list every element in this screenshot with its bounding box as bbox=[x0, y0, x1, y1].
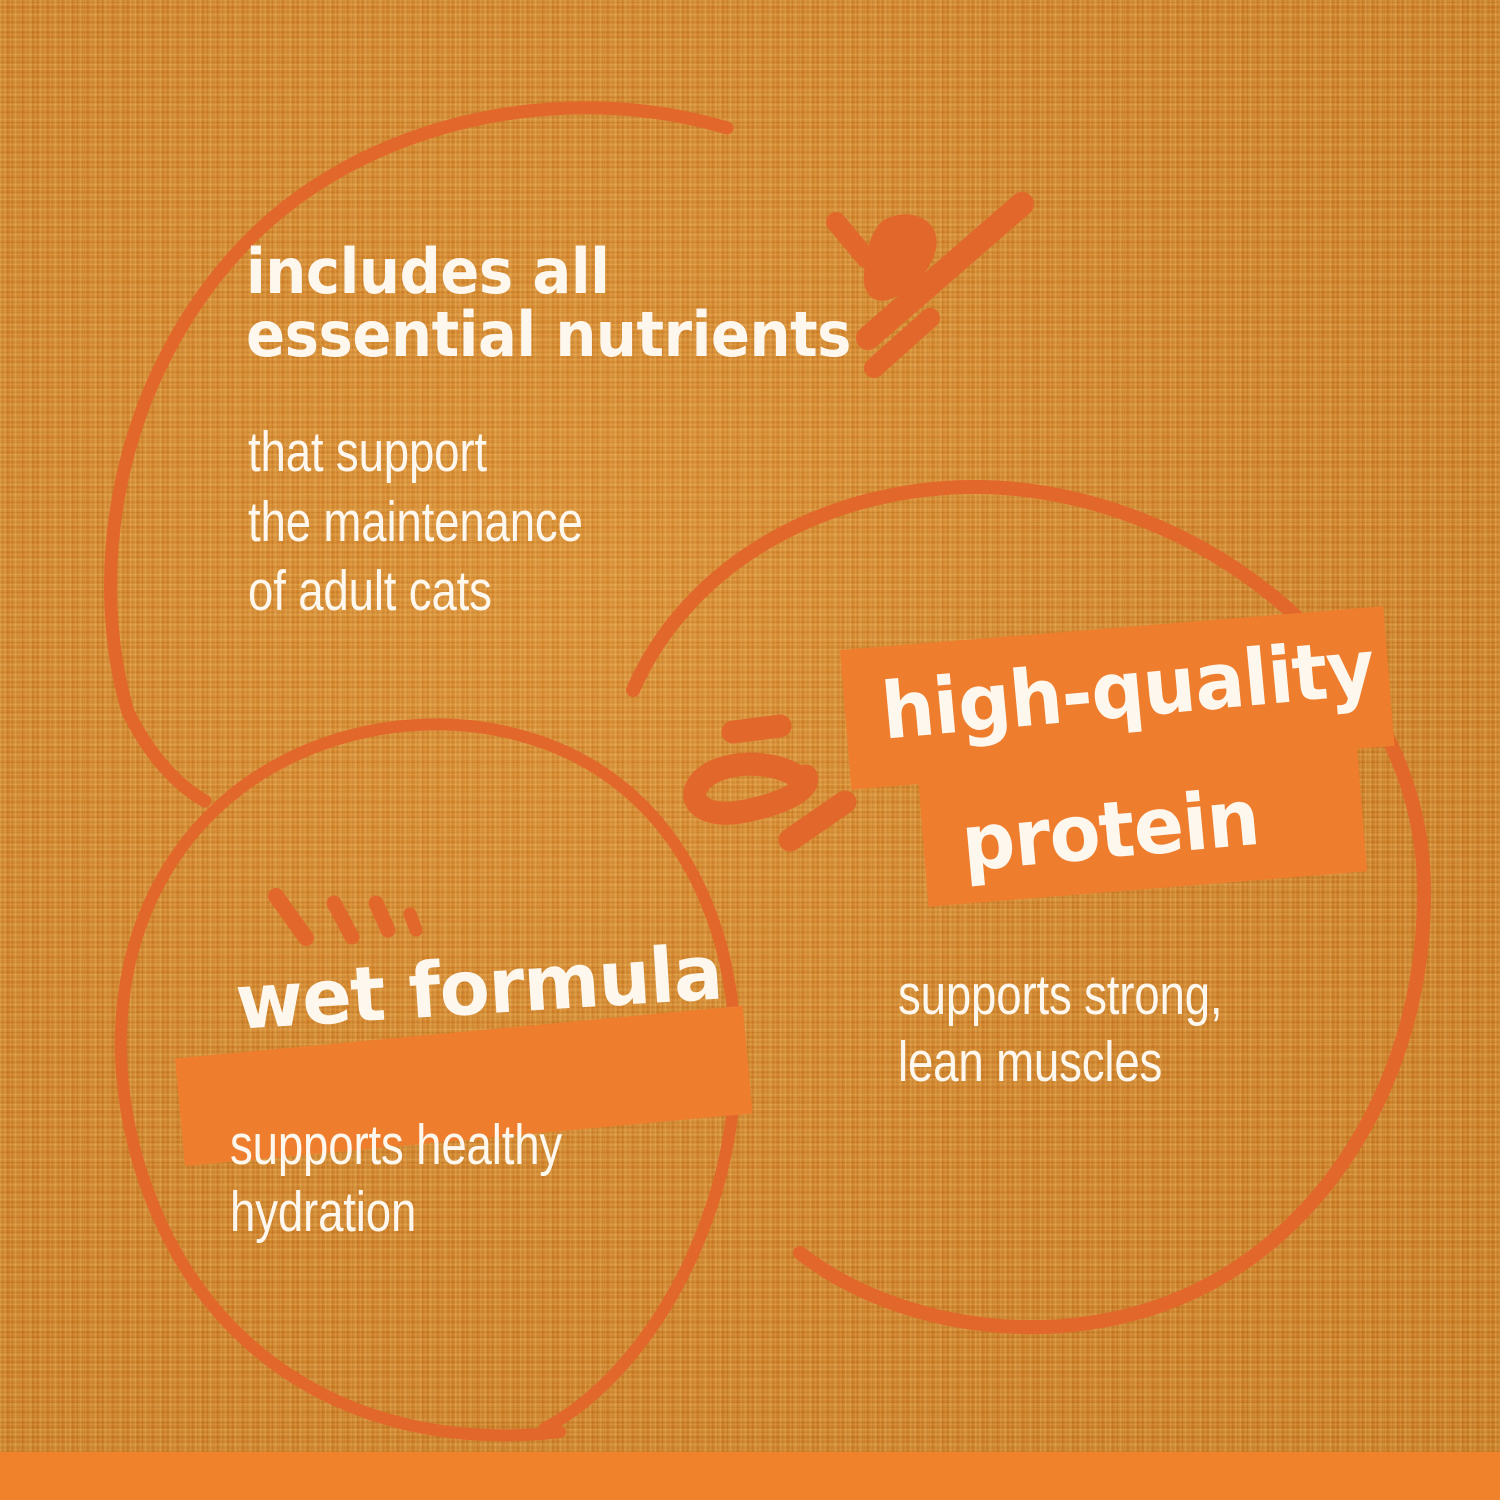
body-text-muscles: supports strong, lean muscles bbox=[898, 962, 1458, 1097]
poster-canvas: .stroke{fill:none;stroke:#e2672b;stroke-… bbox=[0, 0, 1500, 1500]
headline-line-2: essential nutrients bbox=[246, 303, 916, 366]
body-hydration-line-2: hydration bbox=[230, 1179, 678, 1246]
subhead-line-1: that support bbox=[248, 418, 808, 488]
badge-high-quality-protein: high-quality protein bbox=[830, 632, 1430, 922]
subhead-line-3: of adult cats bbox=[248, 557, 808, 627]
body-hydration-line-1: supports healthy bbox=[230, 1112, 678, 1179]
text-content-layer: includes all essential nutrients that su… bbox=[0, 0, 1500, 1500]
headline-line-1: includes all bbox=[246, 240, 916, 303]
subhead-group: that support the maintenance of adult ca… bbox=[248, 418, 948, 627]
body-text-hydration: supports healthy hydration bbox=[230, 1112, 790, 1247]
badge-wet-formula: wet formula bbox=[185, 940, 785, 1090]
body-muscles-line-1: supports strong, bbox=[898, 962, 1346, 1029]
subhead-line-2: the maintenance bbox=[248, 488, 808, 558]
headline-group: includes all essential nutrients bbox=[246, 240, 966, 366]
body-muscles-line-2: lean muscles bbox=[898, 1029, 1346, 1096]
